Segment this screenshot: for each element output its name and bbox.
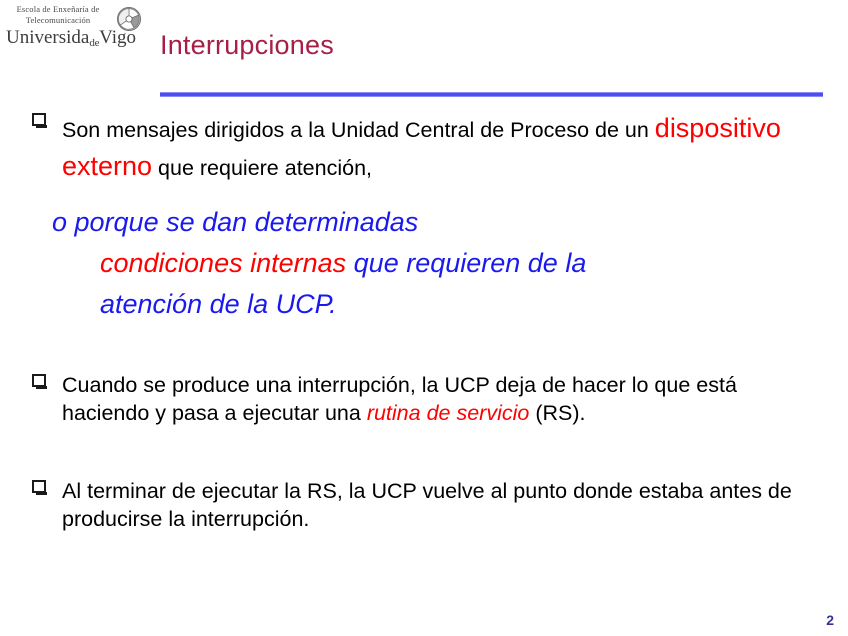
- bullet-1-text-b: que requiere atención,: [152, 156, 372, 180]
- bullet-item-2: Cuando se produce una interrupción, la U…: [28, 371, 828, 427]
- bullet-1-text-a: Son mensajes dirigidos a la Unidad Centr…: [62, 118, 655, 142]
- school-name-line1: Escola de Enxeñaría de: [4, 4, 112, 15]
- blue-block-line2-red: condiciones internas: [100, 248, 346, 278]
- school-name-line2: Telecomunicación: [4, 15, 112, 26]
- blue-emphasis-block: o porque se dan determinadas condiciones…: [52, 202, 828, 325]
- university-logo: Escola de Enxeñaría de Telecomunicación …: [4, 2, 154, 52]
- slide-body: Son mensajes dirigidos a la Unidad Centr…: [28, 110, 828, 533]
- square-bullet-icon: [32, 374, 46, 387]
- square-bullet-icon: [32, 113, 46, 126]
- university-wordmark: UniversidadeVigo: [6, 27, 136, 54]
- square-bullet-icon: [32, 480, 46, 493]
- bullet-2-emphasis: rutina de servicio: [367, 401, 530, 425]
- blue-block-line1: o porque se dan determinadas: [52, 207, 418, 237]
- school-name: Escola de Enxeñaría de Telecomunicación: [4, 4, 112, 26]
- blue-block-line3: atención de la UCP.: [100, 284, 828, 325]
- university-wordmark-sub: de: [89, 37, 99, 49]
- bullet-item-1: Son mensajes dirigidos a la Unidad Centr…: [28, 110, 828, 186]
- blue-block-line2: condiciones internas que requieren de la: [100, 243, 828, 284]
- title-divider: [160, 92, 823, 97]
- blue-block-line2-blue: que requieren de la: [346, 248, 586, 278]
- university-wordmark-tail: Vigo: [99, 27, 136, 48]
- bullet-2-text-b: (RS).: [529, 401, 585, 425]
- bullet-item-3: Al terminar de ejecutar la RS, la UCP vu…: [28, 477, 828, 533]
- bullet-3-text: Al terminar de ejecutar la RS, la UCP vu…: [62, 479, 792, 531]
- university-wordmark-main: Universida: [6, 27, 89, 48]
- page-title: Interrupciones: [160, 30, 820, 61]
- page-number: 2: [826, 612, 834, 628]
